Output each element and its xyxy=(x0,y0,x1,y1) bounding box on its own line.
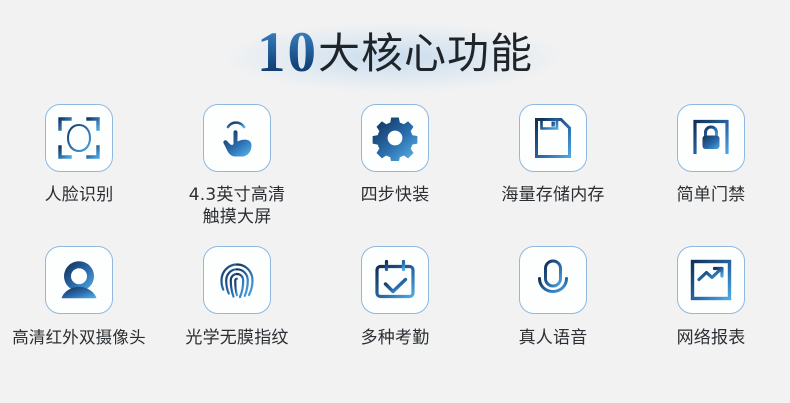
feature-grid: 人脸识别 xyxy=(0,104,790,384)
feature-label: 简单门禁 xyxy=(677,184,746,206)
feature-label: 高清红外双摄像头 xyxy=(12,327,146,349)
door-lock-icon xyxy=(688,115,734,161)
storage-document-icon xyxy=(530,115,576,161)
feature-icon-tile xyxy=(203,104,271,172)
feature-highlights-page: 10大核心功能 xyxy=(0,0,790,403)
gear-icon xyxy=(372,115,418,161)
feature-label: 海量存储内存 xyxy=(501,184,604,206)
feature-icon-tile xyxy=(361,104,429,172)
feature-icon-tile xyxy=(519,246,587,314)
feature-icon-tile xyxy=(361,246,429,314)
feature-icon-tile xyxy=(45,246,113,314)
feature-row-1: 人脸识别 xyxy=(0,104,790,244)
camera-icon xyxy=(56,257,102,303)
feature-label: 4.3英寸高清 触摸大屏 xyxy=(189,184,285,229)
feature-icon-tile xyxy=(677,246,745,314)
feature-item-attendance[interactable]: 多种考勤 xyxy=(316,244,474,384)
title-number: 10 xyxy=(257,21,318,84)
feature-item-access-control[interactable]: 简单门禁 xyxy=(632,104,790,244)
touch-screen-icon xyxy=(214,115,260,161)
feature-item-face-recognition[interactable]: 人脸识别 xyxy=(0,104,158,244)
calendar-check-icon xyxy=(372,257,418,303)
feature-label: 多种考勤 xyxy=(361,327,430,349)
feature-label: 网络报表 xyxy=(677,327,746,349)
feature-item-fingerprint[interactable]: 光学无膜指纹 xyxy=(158,244,316,384)
fingerprint-icon xyxy=(214,257,260,303)
feature-label: 真人语音 xyxy=(519,327,588,349)
feature-label: 人脸识别 xyxy=(45,184,114,206)
feature-row-2: 高清红外双摄像头 xyxy=(0,244,790,384)
feature-icon-tile xyxy=(203,246,271,314)
feature-item-dual-camera[interactable]: 高清红外双摄像头 xyxy=(0,244,158,384)
feature-item-storage[interactable]: 海量存储内存 xyxy=(474,104,632,244)
face-recognition-icon xyxy=(56,115,102,161)
feature-label: 光学无膜指纹 xyxy=(185,327,288,349)
feature-item-quick-install[interactable]: 四步快装 xyxy=(316,104,474,244)
chart-report-icon xyxy=(688,257,734,303)
feature-item-touch-screen[interactable]: 4.3英寸高清 触摸大屏 xyxy=(158,104,316,244)
feature-item-voice[interactable]: 真人语音 xyxy=(474,244,632,384)
page-title: 10大核心功能 xyxy=(0,24,790,92)
feature-label: 四步快装 xyxy=(361,184,430,206)
feature-icon-tile xyxy=(519,104,587,172)
title-label: 大核心功能 xyxy=(318,29,533,78)
microphone-icon xyxy=(530,257,576,303)
feature-icon-tile xyxy=(677,104,745,172)
feature-icon-tile xyxy=(45,104,113,172)
feature-item-network-report[interactable]: 网络报表 xyxy=(632,244,790,384)
